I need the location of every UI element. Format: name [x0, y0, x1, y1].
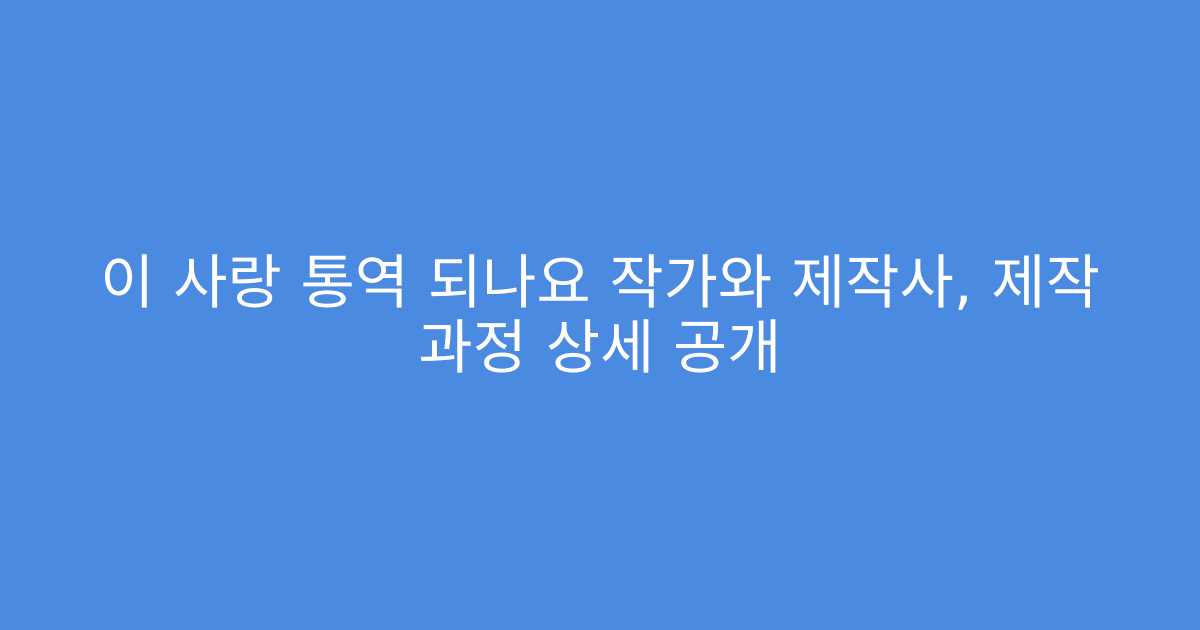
card-title: 이 사랑 통역 되나요 작가와 제작사, 제작 과정 상세 공개 — [52, 250, 1148, 380]
share-card: 이 사랑 통역 되나요 작가와 제작사, 제작 과정 상세 공개 — [0, 0, 1200, 630]
